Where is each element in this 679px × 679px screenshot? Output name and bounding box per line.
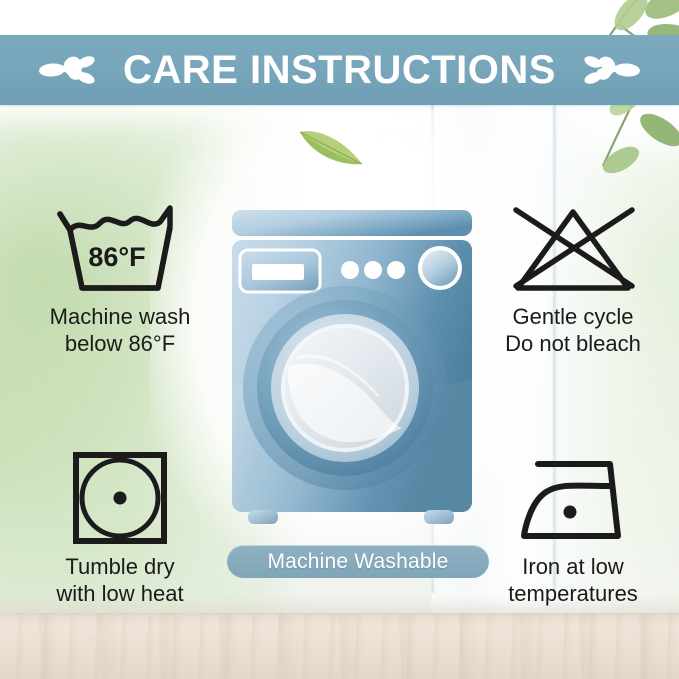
care-item-iron: Iron at low temperatures	[470, 446, 676, 608]
care-item-machine-wash: 86°F Machine wash below 86°F	[14, 196, 226, 358]
detergent-drawer	[240, 250, 320, 292]
status-badge-machine-washable: Machine Washable	[227, 545, 489, 578]
wooden-table-grain	[0, 613, 679, 679]
washer-foot-right	[424, 510, 454, 524]
floating-leaf-icon	[296, 122, 366, 170]
washer-door	[243, 286, 447, 490]
fleur-de-lis-left-icon	[39, 48, 97, 92]
care-caption-do-not-bleach: Gentle cycle Do not bleach	[470, 304, 676, 358]
care-caption-iron: Iron at low temperatures	[470, 554, 676, 608]
control-knob	[418, 246, 462, 290]
tumble-dry-square-circle-one-dot-icon	[71, 450, 169, 546]
washing-machine-illustration	[226, 208, 478, 528]
control-dot-2	[364, 261, 382, 279]
care-caption-machine-wash: Machine wash below 86°F	[14, 304, 226, 358]
care-caption-tumble-dry: Tumble dry with low heat	[14, 554, 226, 608]
care-instructions-infographic: CARE INSTRUCTIONS 86°F Machine wash belo…	[0, 0, 679, 679]
iron-icon-wrap	[470, 446, 676, 546]
wash-tub-icon-wrap: 86°F	[14, 196, 226, 296]
control-dot-3	[387, 261, 405, 279]
badge-label: Machine Washable	[267, 551, 448, 572]
care-item-tumble-dry: Tumble dry with low heat	[14, 446, 226, 608]
wash-tub-icon: 86°F	[54, 204, 186, 296]
foliage-branch-icon	[499, 0, 679, 210]
control-dot-1	[341, 261, 359, 279]
iron-one-dot-icon	[512, 456, 634, 546]
bleach-icon-wrap	[470, 196, 676, 296]
care-item-do-not-bleach: Gentle cycle Do not bleach	[470, 196, 676, 358]
header-banner: CARE INSTRUCTIONS	[0, 35, 679, 105]
triangle-crossed-out-icon	[506, 204, 640, 296]
washer-foot-left	[248, 510, 278, 524]
wash-temperature-value: 86°F	[88, 242, 145, 272]
page-title: CARE INSTRUCTIONS	[123, 50, 556, 90]
tumble-dry-icon-wrap	[14, 446, 226, 546]
fleur-de-lis-right-icon	[582, 48, 640, 92]
